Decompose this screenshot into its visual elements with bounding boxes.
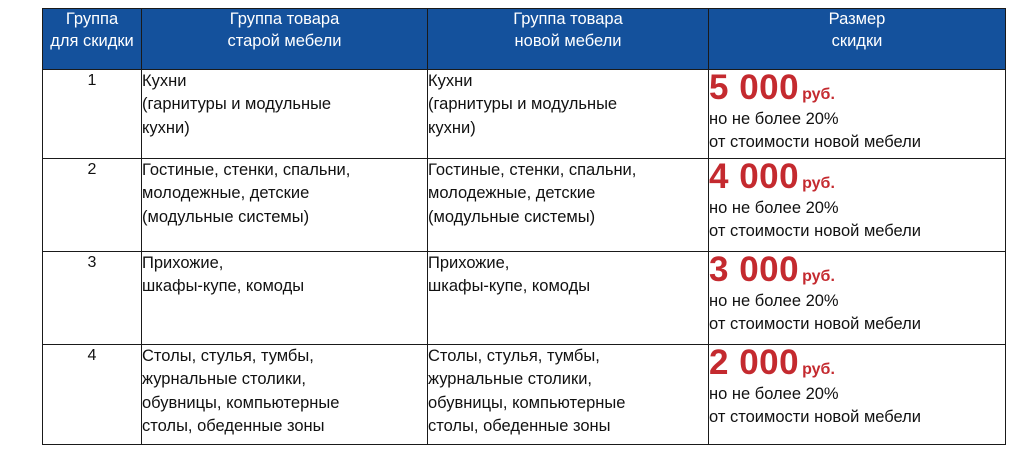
- goods-line: журнальные столики,: [428, 368, 708, 391]
- discount-note-line: от стоимости новой мебели: [709, 313, 1005, 336]
- discount-note-line: но не более 20%: [709, 197, 1005, 220]
- goods-line: обувницы, компьютерные: [142, 392, 427, 415]
- discount-note-line: от стоимости новой мебели: [709, 220, 1005, 243]
- goods-line: Прихожие,: [142, 252, 427, 275]
- column-header-new-furniture-group: Группа товара новой мебели: [428, 9, 709, 70]
- cell-discount-size: 2 000руб. но не более 20% от стоимости н…: [709, 345, 1006, 445]
- discount-amount: 5 000: [709, 68, 799, 107]
- cell-discount-size: 5 000руб. но не более 20% от стоимости н…: [709, 70, 1006, 159]
- cell-group-number: 2: [43, 159, 142, 252]
- goods-line: кухни): [428, 117, 708, 140]
- cell-old-furniture: Кухни (гарнитуры и модульные кухни): [142, 70, 428, 159]
- goods-line: Гостиные, стенки, спальни,: [428, 159, 708, 182]
- goods-line: шкафы-купе, комоды: [428, 275, 708, 298]
- currency-label: руб.: [802, 268, 835, 285]
- goods-line: Прихожие,: [428, 252, 708, 275]
- table-row: 4 Столы, стулья, тумбы, журнальные столи…: [43, 345, 1006, 445]
- cell-new-furniture: Гостиные, стенки, спальни, молодежные, д…: [428, 159, 709, 252]
- discount-amount: 4 000: [709, 157, 799, 196]
- goods-line: столы, обеденные зоны: [428, 415, 708, 438]
- currency-label: руб.: [802, 86, 835, 103]
- goods-line: кухни): [142, 117, 427, 140]
- goods-line: (гарнитуры и модульные: [142, 93, 427, 116]
- column-header-line: Размер: [709, 9, 1005, 31]
- cell-old-furniture: Прихожие, шкафы-купе, комоды: [142, 252, 428, 345]
- discount-amount-line: 3 000руб.: [709, 252, 1005, 288]
- cell-discount-size: 4 000руб. но не более 20% от стоимости н…: [709, 159, 1006, 252]
- discount-note-line: но не более 20%: [709, 108, 1005, 131]
- goods-line: (гарнитуры и модульные: [428, 93, 708, 116]
- discount-table: Группа для скидки Группа товара старой м…: [42, 8, 1006, 445]
- cell-group-number: 4: [43, 345, 142, 445]
- table-row: 3 Прихожие, шкафы-купе, комоды Прихожие,…: [43, 252, 1006, 345]
- cell-old-furniture: Гостиные, стенки, спальни, молодежные, д…: [142, 159, 428, 252]
- column-header-line: Группа товара: [142, 9, 427, 31]
- column-header-line: старой мебели: [142, 31, 427, 53]
- goods-line: (модульные системы): [428, 206, 708, 229]
- discount-amount-line: 2 000руб.: [709, 345, 1005, 381]
- column-header-old-furniture-group: Группа товара старой мебели: [142, 9, 428, 70]
- goods-line: журнальные столики,: [142, 368, 427, 391]
- column-header-line: скидки: [709, 31, 1005, 53]
- table-row: 1 Кухни (гарнитуры и модульные кухни) Ку…: [43, 70, 1006, 159]
- table-row: 2 Гостиные, стенки, спальни, молодежные,…: [43, 159, 1006, 252]
- goods-line: Кухни: [142, 70, 427, 93]
- column-header-group-for-discount: Группа для скидки: [43, 9, 142, 70]
- cell-discount-size: 3 000руб. но не более 20% от стоимости н…: [709, 252, 1006, 345]
- discount-table-wrapper: Группа для скидки Группа товара старой м…: [42, 8, 1005, 445]
- column-header-line: новой мебели: [428, 31, 708, 53]
- discount-note-line: но не более 20%: [709, 383, 1005, 406]
- cell-old-furniture: Столы, стулья, тумбы, журнальные столики…: [142, 345, 428, 445]
- column-header-line: для скидки: [43, 31, 141, 53]
- goods-line: молодежные, детские: [428, 182, 708, 205]
- header-row: Группа для скидки Группа товара старой м…: [43, 9, 1006, 70]
- table-header: Группа для скидки Группа товара старой м…: [43, 9, 1006, 70]
- goods-line: Столы, стулья, тумбы,: [428, 345, 708, 368]
- discount-note-line: но не более 20%: [709, 290, 1005, 313]
- discount-amount: 2 000: [709, 343, 799, 382]
- goods-line: шкафы-купе, комоды: [142, 275, 427, 298]
- currency-label: руб.: [802, 361, 835, 378]
- goods-line: Гостиные, стенки, спальни,: [142, 159, 427, 182]
- cell-new-furniture: Кухни (гарнитуры и модульные кухни): [428, 70, 709, 159]
- currency-label: руб.: [802, 175, 835, 192]
- goods-line: (модульные системы): [142, 206, 427, 229]
- cell-group-number: 3: [43, 252, 142, 345]
- discount-amount-line: 5 000руб.: [709, 70, 1005, 106]
- goods-line: обувницы, компьютерные: [428, 392, 708, 415]
- discount-note-line: от стоимости новой мебели: [709, 406, 1005, 429]
- column-header-discount-size: Размер скидки: [709, 9, 1006, 70]
- goods-line: молодежные, детские: [142, 182, 427, 205]
- discount-note-line: от стоимости новой мебели: [709, 131, 1005, 154]
- column-header-line: Группа: [43, 9, 141, 31]
- cell-new-furniture: Столы, стулья, тумбы, журнальные столики…: [428, 345, 709, 445]
- page-root: Группа для скидки Группа товара старой м…: [0, 0, 1024, 476]
- cell-new-furniture: Прихожие, шкафы-купе, комоды: [428, 252, 709, 345]
- goods-line: Кухни: [428, 70, 708, 93]
- column-header-line: Группа товара: [428, 9, 708, 31]
- table-body: 1 Кухни (гарнитуры и модульные кухни) Ку…: [43, 70, 1006, 445]
- goods-line: Столы, стулья, тумбы,: [142, 345, 427, 368]
- discount-amount-line: 4 000руб.: [709, 159, 1005, 195]
- cell-group-number: 1: [43, 70, 142, 159]
- goods-line: столы, обеденные зоны: [142, 415, 427, 438]
- discount-amount: 3 000: [709, 250, 799, 289]
